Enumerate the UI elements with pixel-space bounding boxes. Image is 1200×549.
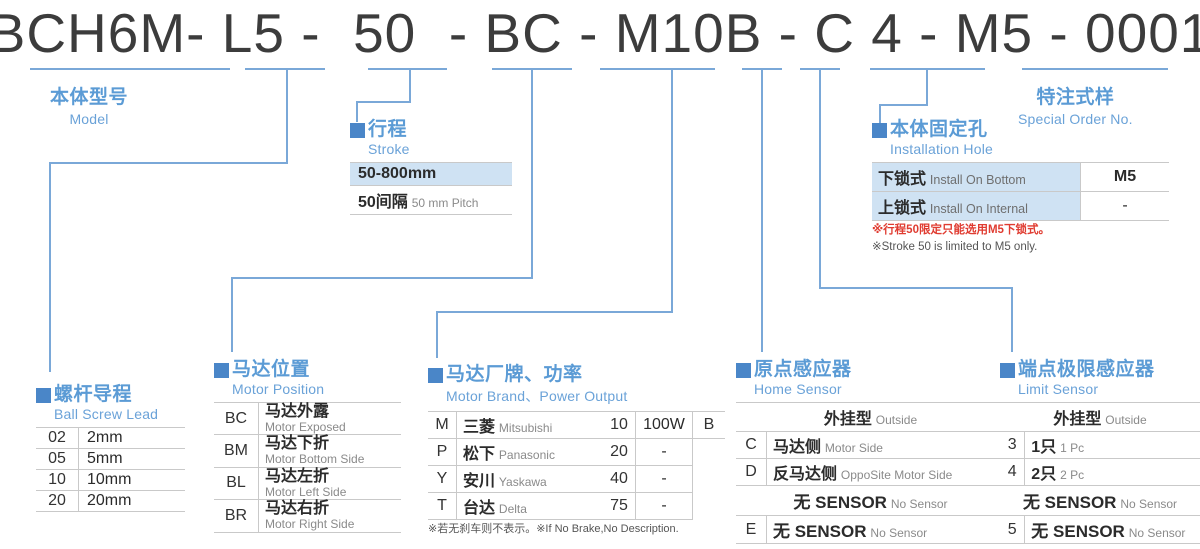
install-internal-cn: 上锁式: [878, 200, 926, 217]
motorpos-cn-0: 马达外露: [265, 404, 397, 421]
brand-cn-2: 安川: [463, 473, 495, 490]
home-band1-cn: 外挂型: [824, 411, 872, 428]
power-value-1: -: [636, 439, 693, 466]
table-row[interactable]: 4 2只 2 Pc: [1000, 459, 1200, 486]
home-cn-1: 反马达侧: [773, 466, 837, 483]
home-en-1: OppoSite Motor Side: [841, 468, 952, 482]
motorpos-cn-1: 马达下折: [265, 436, 397, 453]
ball-screw-lead-table: 02 2mm 05 5mm 10 10mm 20 20mm: [36, 427, 185, 512]
table-row[interactable]: T 台达 Delta 75 -: [428, 493, 725, 520]
brand-cn-1: 松下: [463, 446, 495, 463]
group-motor-brand-title-en: Motor Brand、Power Output: [428, 386, 725, 406]
group-limit-sensor-title-en: Limit Sensor: [1000, 381, 1200, 397]
table-row-band: 外挂型 Outside: [1000, 403, 1200, 432]
group-installation-hole-title-en: Installation Hole: [872, 141, 1169, 157]
table-row[interactable]: 3 1只 1 Pc: [1000, 432, 1200, 459]
table-row[interactable]: E 无 SENSOR No Sensor: [736, 516, 1005, 544]
group-ball-screw-lead-title-cn: 螺杆导程: [54, 385, 132, 404]
lead-value-0: 2mm: [79, 428, 186, 449]
product-code-text: BCH6M- L5 - 50 - BC - M10B - C 4 - M5 - …: [0, 3, 1200, 63]
stroke-range-value: 50-800mm: [358, 165, 436, 182]
table-row[interactable]: 05 5mm: [36, 449, 185, 470]
lead-code-1: 05: [36, 449, 79, 470]
group-installation-hole-title-cn: 本体固定孔: [890, 120, 988, 139]
motorpos-en-0: Motor Exposed: [265, 421, 397, 434]
brand-code-2: Y: [428, 466, 457, 493]
group-home-sensor: 原点感应器 Home Sensor 外挂型 Outside C 马达侧 Moto…: [736, 360, 1005, 544]
group-home-sensor-title-cn: 原点感应器: [754, 360, 852, 379]
table-row[interactable]: 50间隔 50 mm Pitch: [350, 186, 512, 215]
group-motor-brand-header: 马达厂牌、功率: [428, 365, 725, 384]
home-cn-2: 无 SENSOR: [773, 522, 867, 541]
stroke-table: 50-800mm 50间隔 50 mm Pitch: [350, 162, 512, 215]
limit-code-2: 5: [1000, 516, 1025, 544]
limit-en-1: 2 Pc: [1060, 468, 1084, 482]
group-motor-brand-title-cn: 马达厂牌、功率: [446, 365, 583, 384]
motorpos-code-2: BL: [214, 467, 259, 499]
motorpos-code-1: BM: [214, 435, 259, 467]
group-home-sensor-title-en: Home Sensor: [736, 381, 1005, 397]
group-ball-screw-lead-header: 螺杆导程: [36, 385, 185, 404]
group-motor-position: 马达位置 Motor Position BC 马达外露 Motor Expose…: [214, 360, 401, 533]
lead-value-1: 5mm: [79, 449, 186, 470]
power-code-1: 20: [603, 439, 636, 466]
limit-cn-2: 无 SENSOR: [1031, 522, 1125, 541]
group-stroke-title-cn: 行程: [368, 120, 407, 139]
bullet-square-icon: [350, 123, 365, 138]
table-row[interactable]: P 松下 Panasonic 20 -: [428, 439, 725, 466]
table-row[interactable]: 下锁式 Install On Bottom M5: [872, 163, 1169, 192]
table-row[interactable]: BL 马达左折 Motor Left Side: [214, 467, 401, 499]
group-ball-screw-lead: 螺杆导程 Ball Screw Lead 02 2mm 05 5mm 10 10…: [36, 385, 185, 512]
group-model-title-en: Model: [50, 111, 128, 127]
install-bottom-cn: 下锁式: [878, 171, 926, 188]
bullet-square-icon: [428, 368, 443, 383]
limit-sensor-table: 外挂型 Outside 3 1只 1 Pc 4 2只 2 Pc: [1000, 402, 1200, 544]
group-model-title-cn: 本体型号: [50, 82, 128, 109]
table-row[interactable]: D 反马达侧 OppoSite Motor Side: [736, 459, 1005, 486]
home-sensor-table: 外挂型 Outside C 马达侧 Motor Side D 反马达侧 Oppo…: [736, 402, 1005, 544]
table-row[interactable]: BC 马达外露 Motor Exposed: [214, 403, 401, 435]
group-motor-brand: 马达厂牌、功率 Motor Brand、Power Output M 三菱 Mi…: [428, 365, 725, 536]
group-stroke-header: 行程: [350, 120, 512, 139]
table-row[interactable]: 20 20mm: [36, 491, 185, 512]
installation-hole-note-cn: ※行程50限定只能选用M5下锁式。: [872, 223, 1169, 238]
limit-cn-1: 2只: [1031, 466, 1056, 483]
group-limit-sensor-title-cn: 端点极限感应器: [1018, 360, 1155, 379]
bullet-square-icon: [872, 123, 887, 138]
table-row[interactable]: BM 马达下折 Motor Bottom Side: [214, 435, 401, 467]
brand-cn-0: 三菱: [463, 419, 495, 436]
install-internal-value: -: [1122, 197, 1127, 214]
lead-value-2: 10mm: [79, 470, 186, 491]
group-installation-hole: 本体固定孔 Installation Hole 下锁式 Install On B…: [872, 120, 1169, 255]
brand-en-1: Panasonic: [499, 448, 555, 462]
brand-code-0: M: [428, 412, 457, 439]
install-internal-en: Install On Internal: [930, 202, 1028, 216]
group-installation-hole-header: 本体固定孔: [872, 120, 1169, 139]
bullet-square-icon: [214, 363, 229, 378]
table-row[interactable]: 50-800mm: [350, 163, 512, 186]
group-special-order-title-cn: 特注式样: [1018, 82, 1133, 109]
brake-code-0: B: [693, 412, 726, 439]
motorpos-cn-2: 马达左折: [265, 469, 397, 486]
table-row[interactable]: M 三菱 Mitsubishi 10 100W B: [428, 412, 725, 439]
limit-en-0: 1 Pc: [1060, 441, 1084, 455]
limit-band1-cn: 外挂型: [1053, 411, 1101, 428]
home-code-0: C: [736, 432, 767, 459]
group-model: 本体型号 Model: [50, 82, 128, 127]
brand-en-3: Delta: [499, 502, 527, 516]
limit-code-1: 4: [1000, 459, 1025, 486]
table-row[interactable]: 10 10mm: [36, 470, 185, 491]
limit-band2-cn: 无 SENSOR: [1023, 493, 1117, 512]
home-band2-cn: 无 SENSOR: [793, 493, 887, 512]
installation-hole-note-en: ※Stroke 50 is limited to M5 only.: [872, 240, 1169, 255]
brand-en-0: Mitsubishi: [499, 421, 552, 435]
limit-band1-en: Outside: [1105, 413, 1146, 427]
table-row-band: 无 SENSOR No Sensor: [1000, 486, 1200, 516]
table-row-band: 外挂型 Outside: [736, 403, 1005, 432]
table-row[interactable]: C 马达侧 Motor Side: [736, 432, 1005, 459]
table-row[interactable]: BR 马达右折 Motor Right Side: [214, 500, 401, 532]
limit-code-0: 3: [1000, 432, 1025, 459]
table-row-band: 无 SENSOR No Sensor: [736, 486, 1005, 516]
power-value-2: -: [636, 466, 693, 493]
brand-code-3: T: [428, 493, 457, 520]
group-motor-position-header: 马达位置: [214, 360, 401, 379]
bullet-square-icon: [736, 363, 751, 378]
motorpos-en-2: Motor Left Side: [265, 486, 397, 499]
group-motor-position-title-cn: 马达位置: [232, 360, 310, 379]
install-bottom-en: Install On Bottom: [930, 173, 1026, 187]
motor-brand-note: ※若无刹车则不表示。※If No Brake,No Description.: [428, 522, 725, 536]
home-code-1: D: [736, 459, 767, 486]
table-row[interactable]: 上锁式 Install On Internal -: [872, 192, 1169, 221]
bullet-square-icon: [36, 388, 51, 403]
limit-en-2: No Sensor: [1129, 526, 1186, 540]
brake-code-3: [693, 493, 726, 520]
group-home-sensor-header: 原点感应器: [736, 360, 1005, 379]
lead-code-0: 02: [36, 428, 79, 449]
brake-code-2: [693, 466, 726, 493]
table-row[interactable]: Y 安川 Yaskawa 40 -: [428, 466, 725, 493]
motor-brand-table: M 三菱 Mitsubishi 10 100W B P 松下 Panasonic…: [428, 411, 725, 520]
group-motor-position-title-en: Motor Position: [214, 381, 401, 397]
stroke-pitch-cn: 50间隔: [358, 194, 408, 211]
power-code-0: 10: [603, 412, 636, 439]
motorpos-code-3: BR: [214, 500, 259, 532]
motorpos-cn-3: 马达右折: [265, 501, 397, 518]
product-code-diagram: BCH6M- L5 - 50 - BC - M10B - C 4 - M5 - …: [0, 0, 1200, 549]
power-value-3: -: [636, 493, 693, 520]
lead-code-2: 10: [36, 470, 79, 491]
brand-cn-3: 台达: [463, 500, 495, 517]
power-code-2: 40: [603, 466, 636, 493]
home-en-0: Motor Side: [825, 441, 883, 455]
group-stroke-title-en: Stroke: [350, 141, 512, 157]
group-stroke: 行程 Stroke 50-800mm 50间隔 50 mm Pitch: [350, 120, 512, 215]
motorpos-code-0: BC: [214, 403, 259, 435]
home-band2-en: No Sensor: [891, 497, 948, 511]
lead-code-3: 20: [36, 491, 79, 512]
group-ball-screw-lead-title-en: Ball Screw Lead: [36, 406, 185, 422]
brand-en-2: Yaskawa: [499, 475, 547, 489]
product-code-line: BCH6M- L5 - 50 - BC - M10B - C 4 - M5 - …: [0, 0, 1200, 66]
limit-band2-en: No Sensor: [1120, 497, 1177, 511]
stroke-pitch-en: 50 mm Pitch: [412, 196, 479, 210]
table-row[interactable]: 5 无 SENSOR No Sensor: [1000, 516, 1200, 544]
motorpos-en-3: Motor Right Side: [265, 518, 397, 531]
brand-code-1: P: [428, 439, 457, 466]
power-value-0: 100W: [636, 412, 693, 439]
table-row[interactable]: 02 2mm: [36, 428, 185, 449]
home-band1-en: Outside: [876, 413, 917, 427]
home-code-2: E: [736, 516, 767, 544]
bullet-square-icon: [1000, 363, 1015, 378]
motor-position-table: BC 马达外露 Motor Exposed BM 马达下折 Motor Bott…: [214, 402, 401, 533]
brake-code-1: [693, 439, 726, 466]
lead-value-3: 20mm: [79, 491, 186, 512]
home-cn-0: 马达侧: [773, 439, 821, 456]
installation-hole-table: 下锁式 Install On Bottom M5 上锁式 Install On …: [872, 162, 1169, 221]
install-bottom-value: M5: [1114, 168, 1136, 185]
home-en-2: No Sensor: [870, 526, 927, 540]
power-code-3: 75: [603, 493, 636, 520]
group-limit-sensor: 端点极限感应器 Limit Sensor 外挂型 Outside 3 1只 1 …: [1000, 360, 1200, 544]
group-limit-sensor-header: 端点极限感应器: [1000, 360, 1200, 379]
motorpos-en-1: Motor Bottom Side: [265, 453, 397, 466]
limit-cn-0: 1只: [1031, 439, 1056, 456]
